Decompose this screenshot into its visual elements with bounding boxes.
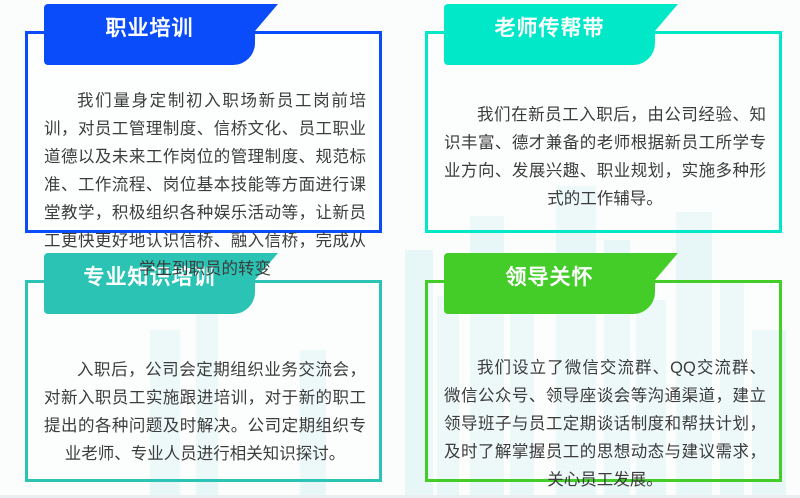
ribbon-fold-corner <box>255 4 278 31</box>
card-grid: 职业培训 我们量身定制初入职场新员工岗前培训，对员工管理制度、信桥文化、员工职业… <box>0 0 800 498</box>
card-title: 老师传帮带 <box>495 18 605 39</box>
ribbon-fold-corner <box>655 4 678 31</box>
card-title: 领导关怀 <box>506 267 594 288</box>
card-body-text: 入职后，公司会定期组织业务交流会，对新入职员工实施跟进培训，对于新的职工提出的各… <box>44 356 366 468</box>
card-title: 职业培训 <box>106 18 194 39</box>
card-vocational-training: 职业培训 我们量身定制初入职场新员工岗前培训，对员工管理制度、信桥文化、员工职业… <box>0 0 400 249</box>
card-body-text: 我们在新员工入职后，由公司经验、知识丰富、德才兼备的老师根据新员工所学专业方向、… <box>444 101 766 213</box>
card-body-text: 我们量身定制初入职场新员工岗前培训，对员工管理制度、信桥文化、员工职业道德以及未… <box>44 87 366 283</box>
card-header-ribbon: 职业培训 <box>44 4 255 65</box>
card-leadership-care: 领导关怀 我们设立了微信交流群、QQ交流群、微信公众号、领导座谈会等沟通渠道，建… <box>400 249 800 498</box>
card-body-text: 我们设立了微信交流群、QQ交流群、微信公众号、领导座谈会等沟通渠道，建立领导班子… <box>444 354 766 494</box>
card-header-ribbon: 领导关怀 <box>444 253 655 314</box>
card-mentor-program: 老师传帮带 我们在新员工入职后，由公司经验、知识丰富、德才兼备的老师根据新员工所… <box>400 0 800 249</box>
card-professional-knowledge-training: 专业知识培训 入职后，公司会定期组织业务交流会，对新入职员工实施跟进培训，对于新… <box>0 249 400 498</box>
ribbon-fold-corner <box>655 253 678 280</box>
card-header-ribbon: 老师传帮带 <box>444 4 655 65</box>
